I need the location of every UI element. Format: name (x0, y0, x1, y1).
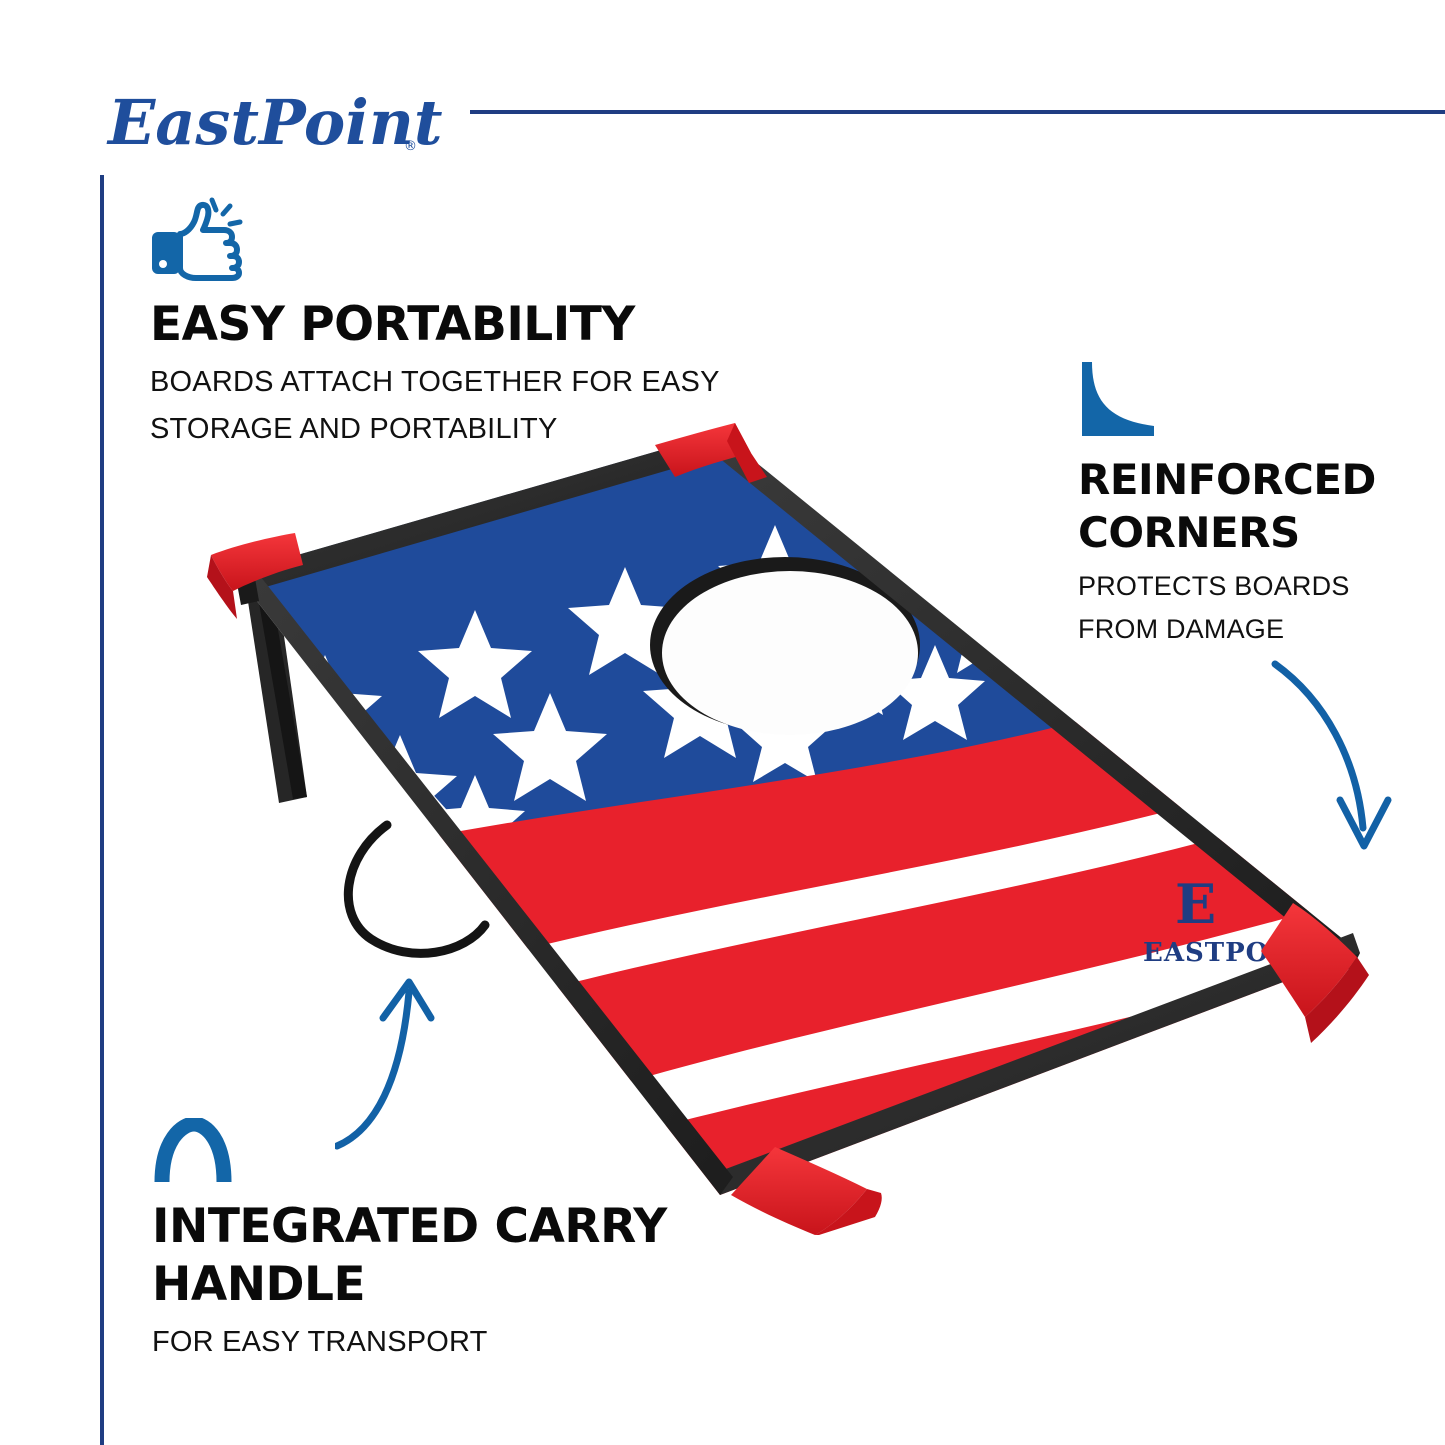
eastpoint-logo: EastPoint ® (104, 78, 444, 170)
infographic-page: EastPoint ® EASY PORTABILITY BOARDS ATTA… (0, 0, 1445, 1445)
logo-trademark: ® (404, 139, 417, 154)
american-flag-cornhole-board: E EASTPOINT ® (175, 405, 1385, 1235)
feature-title-line2: HANDLE (152, 1261, 712, 1309)
badge-monogram: E (1175, 872, 1216, 936)
logo-wordmark: EastPoint (106, 86, 443, 159)
thumbs-up-icon (150, 196, 790, 287)
feature-body-line1: BOARDS ATTACH TOGETHER FOR EASY (150, 359, 790, 406)
feature-title: EASY PORTABILITY (150, 301, 790, 349)
left-vertical-rule (100, 175, 104, 1445)
board-face: E EASTPOINT ® (175, 405, 1385, 1235)
feature-body-line1: FOR EASY TRANSPORT (152, 1319, 712, 1366)
top-horizontal-rule (470, 110, 1445, 114)
